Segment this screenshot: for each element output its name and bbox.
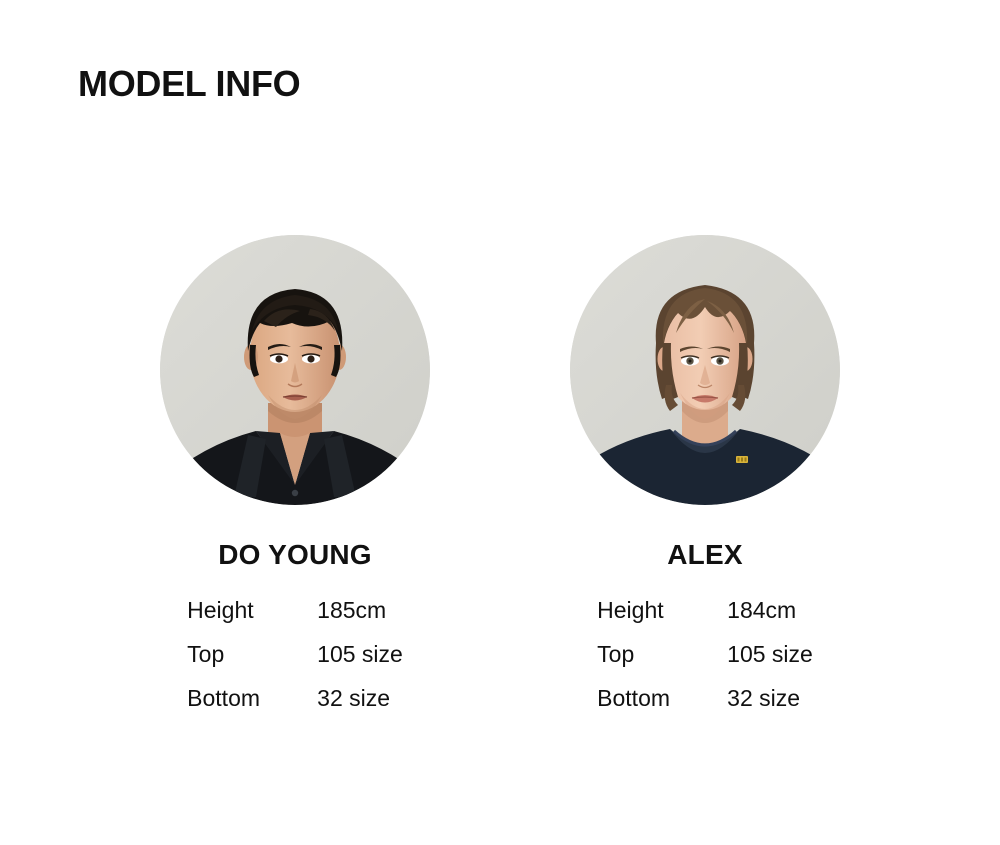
model-card-do-young: DO YOUNG Height 185cm Top 105 size Botto…: [160, 235, 430, 712]
model-avatar-alex: [570, 235, 840, 505]
spec-value-bottom: 32 size: [317, 685, 403, 712]
spec-label-top: Top: [597, 641, 727, 668]
spec-value-top: 105 size: [317, 641, 403, 668]
model-list: DO YOUNG Height 185cm Top 105 size Botto…: [0, 235, 1000, 712]
spec-label-top: Top: [187, 641, 317, 668]
model-name: DO YOUNG: [218, 541, 372, 569]
page-title: MODEL INFO: [78, 66, 300, 102]
spec-value-top: 105 size: [727, 641, 813, 668]
spec-label-height: Height: [187, 597, 317, 624]
model-portrait-photo: [160, 235, 430, 505]
model-avatar-do-young: [160, 235, 430, 505]
model-spec-table: Height 184cm Top 105 size Bottom 32 size: [597, 597, 813, 712]
model-portrait-photo: [570, 235, 840, 505]
spec-value-height: 185cm: [317, 597, 403, 624]
spec-value-height: 184cm: [727, 597, 813, 624]
spec-label-bottom: Bottom: [187, 685, 317, 712]
spec-label-height: Height: [597, 597, 727, 624]
model-name: ALEX: [667, 541, 742, 569]
model-card-alex: ALEX Height 184cm Top 105 size Bottom 32…: [570, 235, 840, 712]
spec-value-bottom: 32 size: [727, 685, 813, 712]
spec-label-bottom: Bottom: [597, 685, 727, 712]
model-spec-table: Height 185cm Top 105 size Bottom 32 size: [187, 597, 403, 712]
